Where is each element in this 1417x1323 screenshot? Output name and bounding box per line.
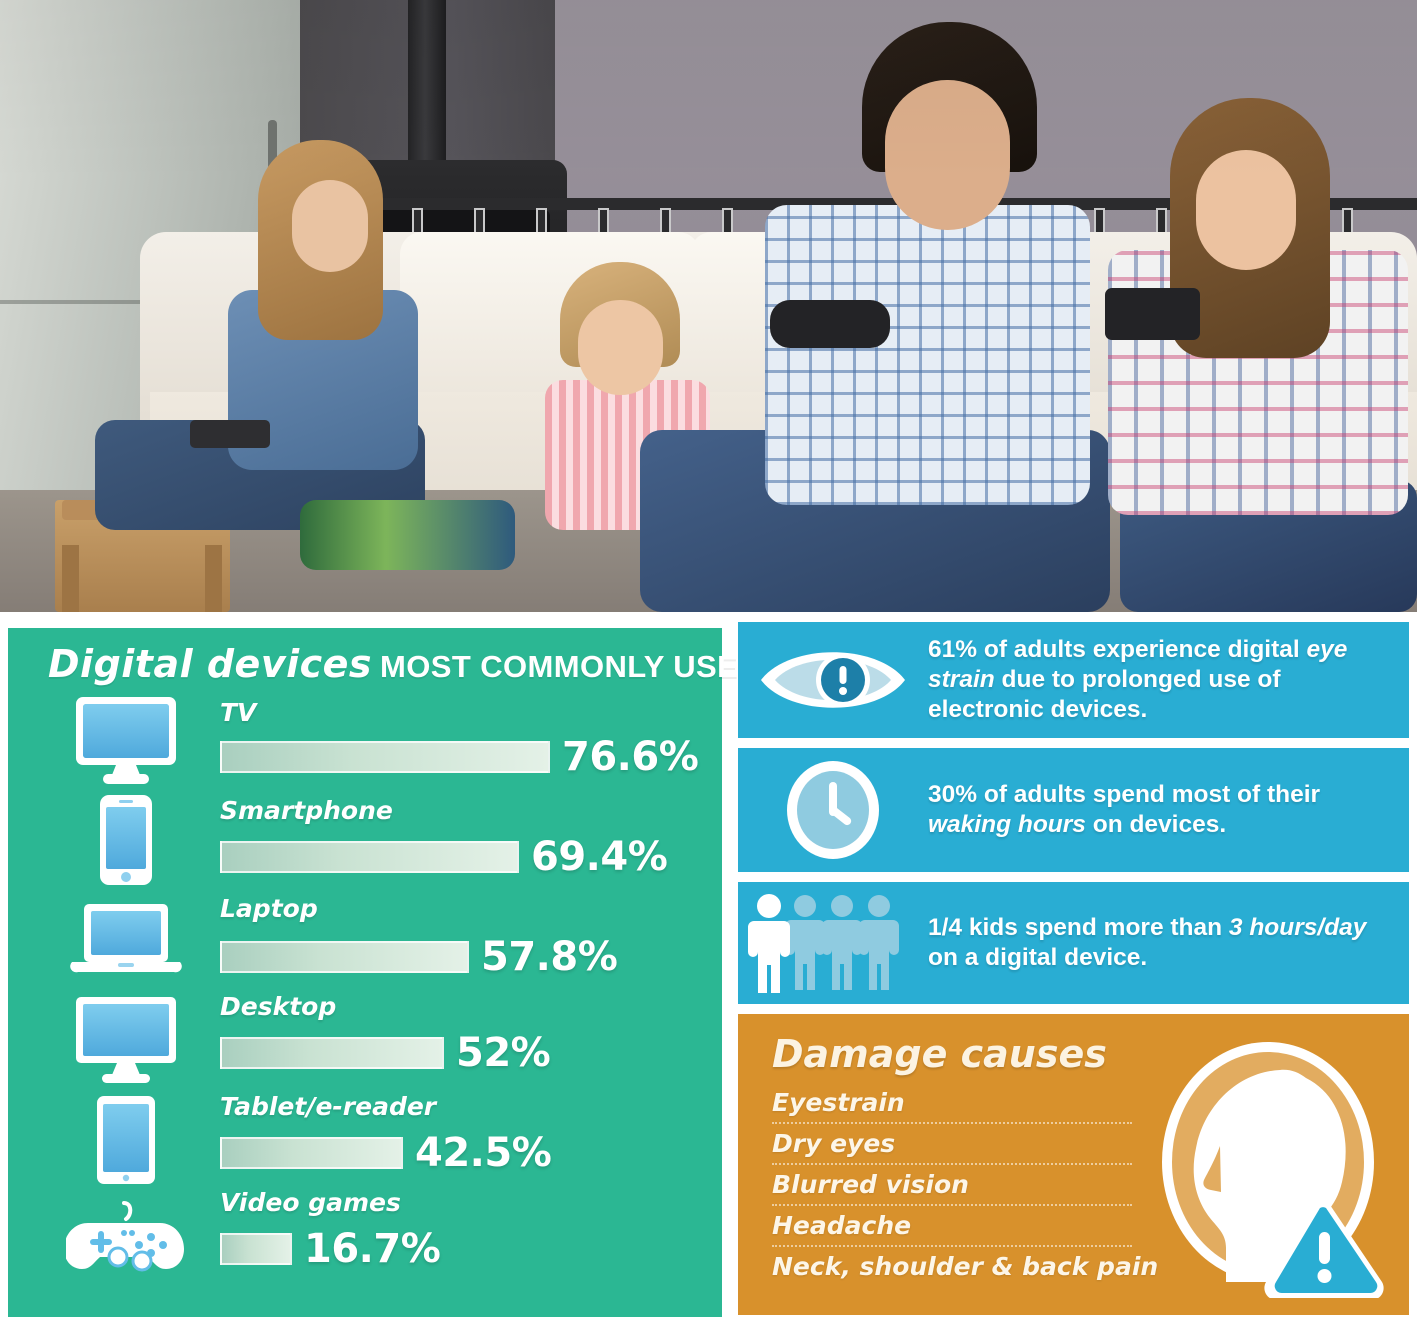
chart-bar-smartphone	[220, 841, 519, 873]
chart-row-tablet: Tablet/e-reader 42.5%	[8, 1090, 722, 1190]
damage-causes-title: Damage causes	[772, 1032, 1107, 1076]
chart-bar-tv	[220, 741, 550, 773]
fact-card-kids-hours: 1/4 kids spend more than 3 hours/day on …	[738, 882, 1409, 1004]
damage-separator	[772, 1245, 1132, 1247]
chart-row-laptop: Laptop 57.8%	[8, 890, 722, 990]
fact-emphasis-waking-hours: waking hours	[928, 811, 1086, 838]
fact-emphasis-kids-hours: 3 hours/day	[1229, 914, 1367, 941]
fact-part: on a digital device.	[928, 944, 1147, 971]
chart-value-tablet: 42.5%	[415, 1130, 551, 1176]
tv-icon	[66, 690, 186, 790]
gamepad-icon	[66, 1190, 186, 1290]
tablet-icon	[66, 1090, 186, 1190]
damage-item-blurred-vision: Blurred vision	[772, 1168, 1152, 1202]
chart-title: Digital devicesMOST COMMONLY USED	[48, 642, 718, 688]
clock-icon	[738, 748, 928, 872]
chart-bar-row-tablet: 42.5%	[220, 1130, 551, 1176]
chart-value-desktop: 52%	[456, 1030, 550, 1076]
fact-part: of adults experience digital	[977, 636, 1306, 663]
chart-bar-row-video-games: 16.7%	[220, 1226, 440, 1272]
chart-bar-row-smartphone: 69.4%	[220, 834, 667, 880]
chart-title-caps: MOST COMMONLY USED	[380, 649, 761, 684]
damage-item-headache: Headache	[772, 1209, 1152, 1243]
chart-label-tv: TV	[220, 698, 256, 727]
damage-separator	[772, 1204, 1132, 1206]
chart-label-tablet: Tablet/e-reader	[220, 1092, 436, 1121]
infographic-page: Digital devicesMOST COMMONLY USED	[0, 0, 1417, 1323]
header-photo	[0, 0, 1417, 612]
damage-separator	[772, 1163, 1132, 1165]
damage-item-neck-shoulder-back-pain: Neck, shoulder & back pain	[772, 1250, 1152, 1284]
chart-value-smartphone: 69.4%	[531, 834, 667, 880]
chart-bar-desktop	[220, 1037, 444, 1069]
chart-value-video-games: 16.7%	[304, 1226, 440, 1272]
damage-item-dry-eyes: Dry eyes	[772, 1127, 1152, 1161]
chart-bar-row-tv: 76.6%	[220, 734, 698, 780]
chart-bar-tablet	[220, 1137, 403, 1169]
fact-card-waking-hours: 30% of adults spend most of their waking…	[738, 748, 1409, 872]
infographic-body: Digital devicesMOST COMMONLY USED	[0, 612, 1417, 1323]
smartphone-icon	[66, 790, 186, 890]
chart-label-smartphone: Smartphone	[220, 796, 393, 825]
fact-part: of adults spend most of their	[977, 781, 1320, 808]
damage-causes-list: Eyestrain Dry eyes Blurred vision Headac…	[772, 1086, 1152, 1284]
chart-label-laptop: Laptop	[220, 894, 318, 923]
fact-part: kids spend more than	[962, 914, 1229, 941]
chart-value-laptop: 57.8%	[481, 934, 617, 980]
fact-lead-kids-hours: 1/4	[928, 914, 962, 941]
digital-devices-chart-panel: Digital devicesMOST COMMONLY USED	[8, 628, 722, 1317]
desktop-icon	[66, 990, 186, 1090]
photo-overlay	[0, 0, 1417, 612]
chart-bar-row-desktop: 52%	[220, 1030, 550, 1076]
damage-separator	[772, 1122, 1132, 1124]
chart-row-video-games: Video games 16.7%	[8, 1190, 722, 1290]
chart-bar-laptop	[220, 941, 469, 973]
chart-row-smartphone: Smartphone 69.4%	[8, 790, 722, 890]
eye-alert-icon	[738, 622, 928, 738]
chart-row-tv: TV 76.6%	[8, 690, 722, 790]
fact-part: on devices.	[1086, 811, 1226, 838]
chart-title-script: Digital devices	[48, 642, 372, 686]
damage-item-eyestrain: Eyestrain	[772, 1086, 1152, 1120]
right-column: 61% of adults experience digital eye str…	[738, 612, 1409, 1323]
chart-bar-video-games	[220, 1233, 292, 1265]
head-profile-silhouette-icon	[1156, 1036, 1391, 1298]
people-group-icon	[738, 882, 928, 1004]
chart-row-desktop: Desktop 52%	[8, 990, 722, 1090]
chart-rows: TV 76.6%	[8, 690, 722, 1290]
fact-lead-waking-hours: 30%	[928, 781, 977, 808]
fact-lead-eye-strain: 61%	[928, 636, 977, 663]
chart-label-desktop: Desktop	[220, 992, 336, 1021]
fact-card-eye-strain: 61% of adults experience digital eye str…	[738, 622, 1409, 738]
fact-text-kids-hours: 1/4 kids spend more than 3 hours/day on …	[928, 913, 1409, 973]
chart-label-video-games: Video games	[220, 1188, 401, 1217]
chart-value-tv: 76.6%	[562, 734, 698, 780]
fact-text-eye-strain: 61% of adults experience digital eye str…	[928, 635, 1409, 725]
chart-bar-row-laptop: 57.8%	[220, 934, 617, 980]
damage-causes-panel: Damage causes Eyestrain Dry eyes Blurred…	[738, 1014, 1409, 1315]
laptop-icon	[66, 890, 186, 990]
fact-text-waking-hours: 30% of adults spend most of their waking…	[928, 780, 1409, 840]
